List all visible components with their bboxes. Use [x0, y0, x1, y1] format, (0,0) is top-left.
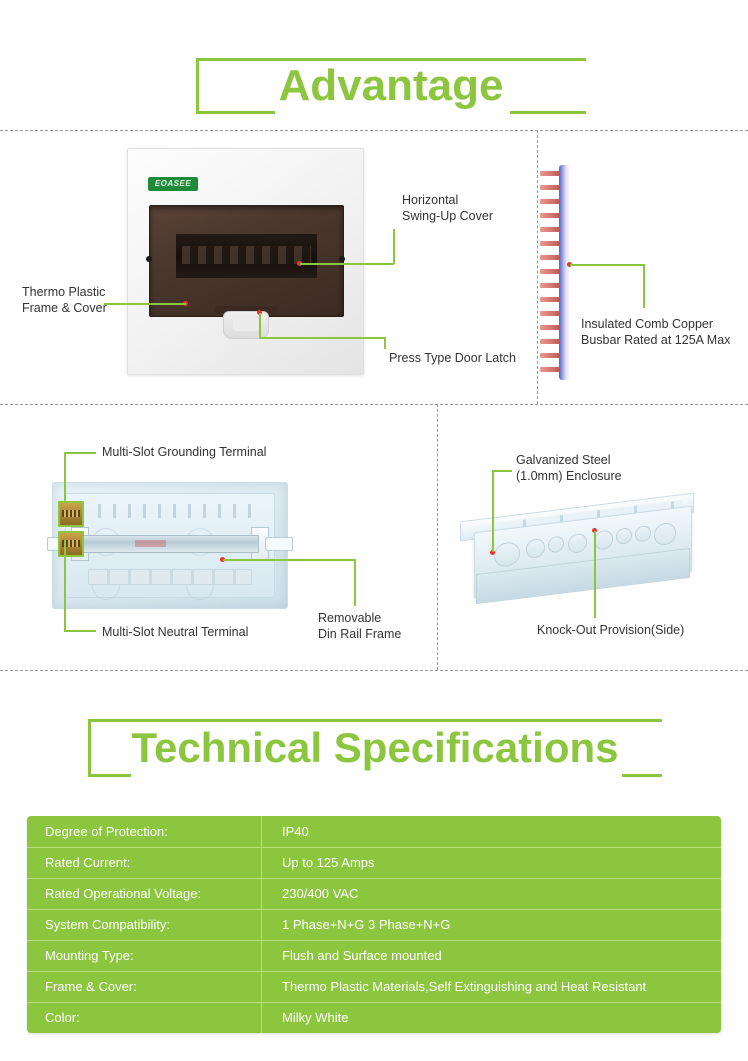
technical-specifications-title: Technical Specifications	[88, 727, 662, 769]
knockout-hole	[594, 529, 613, 550]
callout-multi-slot-neutral-terminal: Multi-Slot Neutral Terminal	[102, 624, 332, 640]
callout-knock-out-provision-side: Knock-Out Provision(Side)	[537, 622, 747, 638]
leader-din-rail-vert	[354, 559, 356, 606]
spec-value: 1 Phase+N+G 3 Phase+N+G	[262, 909, 722, 940]
leader-swing-up-cover	[300, 263, 394, 265]
header-bracket-foot-left	[199, 111, 275, 114]
press-type-latch	[223, 311, 269, 339]
table-row: Degree of Protection: IP40	[27, 816, 721, 847]
spec-value: Thermo Plastic Materials,Self Extinguish…	[262, 971, 722, 1002]
table-row: Frame & Cover: Thermo Plastic Materials,…	[27, 971, 721, 1002]
leader-door-latch-vert	[259, 313, 261, 339]
callout-thermo-plastic-frame-cover: Thermo Plastic Frame & Cover	[22, 284, 162, 316]
knockout-hole	[616, 527, 632, 545]
knockout-hole	[548, 535, 564, 553]
callout-removable-din-rail-frame: Removable Din Rail Frame	[318, 610, 458, 642]
advantage-spec-page: Advantage EOASEE Horizontal Swing-Up Cov…	[0, 0, 748, 1061]
hinge-right-icon	[339, 256, 345, 262]
spec-key: System Compatibility:	[27, 909, 262, 940]
header-bracket-foot-left	[91, 774, 131, 777]
leader-din-rail	[223, 559, 356, 561]
spec-value: 230/400 VAC	[262, 878, 722, 909]
enclosure-side-view-image	[460, 505, 700, 600]
callout-galvanized-steel-enclosure: Galvanized Steel (1.0mm) Enclosure	[516, 452, 686, 484]
advantage-section-header: Advantage	[196, 58, 586, 114]
spec-key: Rated Current:	[27, 847, 262, 878]
spec-key: Frame & Cover:	[27, 971, 262, 1002]
neutral-terminal-block	[58, 531, 84, 557]
spec-value: Up to 125 Amps	[262, 847, 722, 878]
header-bracket-foot-right	[510, 111, 586, 114]
distribution-box-front-image: EOASEE	[127, 148, 364, 375]
table-row: Color: Milky White	[27, 1002, 721, 1033]
spec-key: Degree of Protection:	[27, 816, 262, 847]
table-row: System Compatibility: 1 Phase+N+G 3 Phas…	[27, 909, 721, 940]
leader-neutral-terminal-vert	[64, 540, 66, 632]
spec-key: Mounting Type:	[27, 940, 262, 971]
distribution-box-interior-image	[52, 482, 288, 609]
leader-door-latch-vert2	[384, 337, 386, 349]
divider-middle	[0, 404, 748, 405]
divider-top	[0, 130, 748, 131]
leader-door-latch	[259, 337, 385, 339]
callout-insulated-comb-copper-busbar: Insulated Comb Copper Busbar Rated at 12…	[581, 316, 748, 348]
din-rail	[81, 535, 259, 553]
advantage-title: Advantage	[196, 64, 586, 108]
spec-value: Flush and Surface mounted	[262, 940, 722, 971]
table-row: Rated Current: Up to 125 Amps	[27, 847, 721, 878]
bottom-vent-slots	[88, 569, 252, 585]
spec-value: Milky White	[262, 1002, 722, 1033]
spec-value: IP40	[262, 816, 722, 847]
table-row: Mounting Type: Flush and Surface mounted	[27, 940, 721, 971]
divider-bottom	[0, 670, 748, 671]
knockout-hole	[654, 522, 676, 547]
callout-multi-slot-grounding-terminal: Multi-Slot Grounding Terminal	[102, 444, 332, 460]
breaker-slot-strip	[176, 234, 317, 278]
cover-clips	[86, 504, 254, 518]
spec-key: Color:	[27, 1002, 262, 1033]
header-bracket-foot-right	[622, 774, 662, 777]
leader-knock-out-vert	[594, 531, 596, 618]
hinge-left-icon	[146, 256, 152, 262]
leader-swing-up-cover-vert	[393, 229, 395, 264]
leader-neutral-terminal	[64, 630, 96, 632]
leader-galvanized-steel	[492, 470, 512, 472]
smoked-cover-window	[149, 205, 344, 317]
table-row: Rated Operational Voltage: 230/400 VAC	[27, 878, 721, 909]
technical-specifications-table: Degree of Protection: IP40 Rated Current…	[27, 816, 721, 1033]
callout-horizontal-swing-up-cover: Horizontal Swing-Up Cover	[402, 192, 542, 224]
leader-galvanized-steel-vert	[492, 470, 494, 552]
grounding-terminal-block	[58, 501, 84, 527]
leader-busbar	[570, 264, 645, 266]
spec-table-body: Degree of Protection: IP40 Rated Current…	[27, 816, 721, 1033]
spec-key: Rated Operational Voltage:	[27, 878, 262, 909]
knockout-hole	[635, 525, 651, 543]
comb-busbar-image	[559, 165, 569, 380]
knockout-hole	[526, 538, 545, 559]
knockout-hole	[568, 533, 587, 554]
leader-grounding-terminal-vert	[64, 452, 66, 502]
leader-busbar-vert	[643, 264, 645, 308]
brand-logo: EOASEE	[148, 177, 198, 191]
technical-specifications-section-header: Technical Specifications	[88, 719, 662, 777]
leader-grounding-terminal	[64, 452, 96, 454]
mounting-ear-right	[265, 537, 293, 551]
